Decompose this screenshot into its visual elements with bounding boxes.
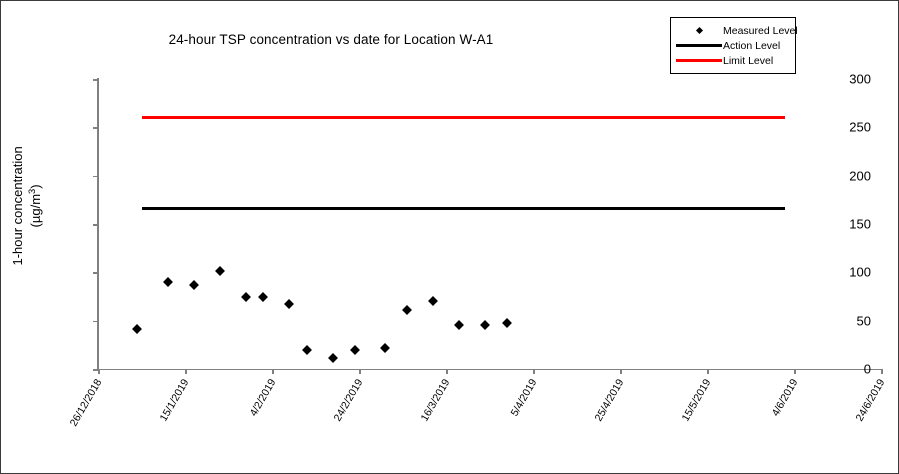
data-point [302,345,312,355]
y-axis-tick-label: 250 [849,120,871,135]
y-axis-title: 1-hour concentration (µg/m3) [7,109,47,223]
y-axis-tick [93,79,98,81]
x-axis-tick-label: 24/6/2019 [854,377,888,423]
data-point [163,277,173,287]
y-axis-tick-label: 150 [849,217,871,232]
y-axis-tick-label: 0 [864,362,871,377]
y-axis-title-line1: 1-hour concentration [10,146,25,265]
x-axis-tick-label: 16/3/2019 [419,377,453,423]
y-axis-tick [93,272,98,274]
data-point [454,320,464,330]
legend-label: Limit Level [723,55,773,67]
threshold-line-action-level [142,207,786,210]
legend-label: Action Level [723,40,780,52]
chart-title: 24-hour TSP concentration vs date for Lo… [1,32,661,47]
data-point [480,320,490,330]
x-axis-tick [707,369,709,374]
y-axis-tick-label: 300 [849,72,871,87]
data-point [502,318,512,328]
x-axis-tick [794,369,796,374]
chart-figure: 24-hour TSP concentration vs date for Lo… [0,0,899,474]
y-axis-tick [93,176,98,178]
legend-item-action-level: Action Level [675,38,791,53]
y-axis-tick [93,127,98,129]
data-point [258,293,268,303]
data-point [380,343,390,353]
chart-legend: Measured Level Action Level Limit Level [670,17,796,74]
x-axis-tick [272,369,274,374]
x-axis-tick-label: 15/1/2019 [158,377,192,423]
legend-item-limit-level: Limit Level [675,53,791,68]
threshold-line-limit-level [142,116,786,119]
y-axis-tick-label: 200 [849,168,871,183]
x-axis-tick-label: 24/2/2019 [332,377,366,423]
x-axis-tick [98,369,100,374]
x-axis-tick [446,369,448,374]
data-point [189,280,199,290]
y-axis-tick [93,321,98,323]
x-axis-tick [881,369,883,374]
y-axis-tick [93,224,98,226]
y-axis-title-line2: (µg/m3) [28,184,43,227]
data-point [328,353,338,363]
line-swatch-icon [675,44,723,47]
x-axis-tick-label: 4/2/2019 [248,377,279,418]
x-axis-tick [359,369,361,374]
line-swatch-icon [675,59,723,62]
x-axis-tick [620,369,622,374]
y-axis-tick-label: 100 [849,265,871,280]
data-point [350,345,360,355]
data-point [241,292,251,302]
x-axis-tick-label: 25/4/2019 [593,377,627,423]
data-point [132,324,142,334]
diamond-marker-icon [675,28,723,33]
plot-area: 05010015020025030026/12/201815/1/20194/2… [98,79,881,369]
data-point [402,305,412,315]
legend-item-measured-level: Measured Level [675,23,791,38]
x-axis-tick [185,369,187,374]
data-point [284,299,294,309]
data-point [215,266,225,276]
x-axis-tick-label: 15/5/2019 [680,377,714,423]
x-axis-tick-label: 5/4/2019 [509,377,540,418]
x-axis-tick [533,369,535,374]
y-axis-tick-label: 50 [857,313,871,328]
x-axis-tick-label: 26/12/2018 [68,377,105,429]
legend-label: Measured Level [723,25,798,37]
x-axis-tick-label: 4/6/2019 [770,377,801,418]
data-point [428,296,438,306]
